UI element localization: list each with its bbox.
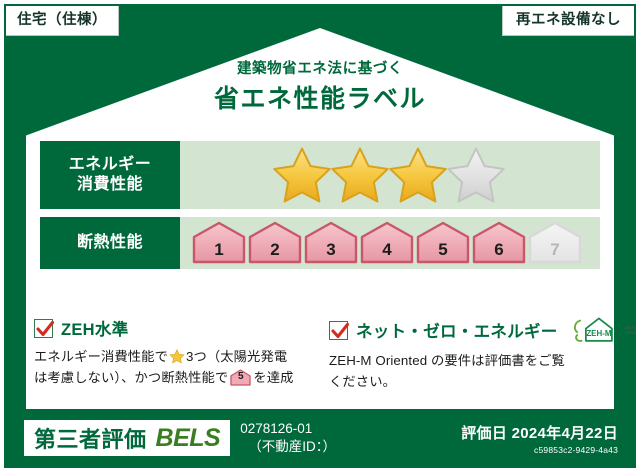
energy-performance-label-box: エネルギー 消費性能	[40, 141, 180, 209]
nze-criteria-title: ネット・ゼロ・エネルギー	[356, 318, 558, 342]
insulation-level-filled: 5	[416, 221, 470, 265]
star-rating	[271, 146, 503, 204]
label-frame: 住宅（住棟） 再エネ設備なし 建築物省エネ法に基づく 省エネ性能ラベル エネルギ…	[4, 4, 636, 468]
house-icon-inline: 5	[230, 369, 251, 386]
zeh-body-part3: を達成	[253, 370, 293, 385]
nze-criteria-header: ネット・ゼロ・エネルギー ZEH-M ZEH-M Oriented	[329, 316, 608, 344]
house-icon-value: 5	[230, 369, 251, 385]
zeh-criteria-body: エネルギー消費性能で 3つ（太陽光発電 は考慮しない）、かつ断熱性能で 5 を達…	[34, 347, 311, 388]
rating-rows: エネルギー 消費性能 断熱性能 1234567	[40, 141, 600, 277]
check-icon	[34, 318, 56, 340]
insulation-level-number: 5	[416, 240, 470, 260]
label-footer: 第三者評価 BELS 0278126-01 （不動産ID：） 評価日 2024年…	[4, 412, 636, 464]
certificate-property-id: （不動産ID：）	[240, 438, 336, 456]
house-rating: 1234567	[192, 221, 582, 265]
insulation-level-number: 7	[528, 240, 582, 260]
insulation-level-filled: 2	[248, 221, 302, 265]
check-icon	[329, 320, 351, 342]
energy-performance-label: 住宅（住棟） 再エネ設備なし 建築物省エネ法に基づく 省エネ性能ラベル エネルギ…	[0, 0, 640, 472]
insulation-levels-area: 1234567	[180, 217, 600, 269]
insulation-level-number: 4	[360, 240, 414, 260]
star-icon-filled	[271, 146, 333, 204]
insulation-performance-label-box: 断熱性能	[40, 217, 180, 269]
page-title: 建築物省エネ法に基づく 省エネ性能ラベル	[4, 62, 636, 112]
insulation-level-number: 2	[248, 240, 302, 260]
energy-performance-row: エネルギー 消費性能	[40, 141, 600, 209]
nze-criteria-body: ZEH-M Oriented の要件は評価書をご覧 ください。	[329, 351, 608, 392]
building-type-tag: 住宅（住棟）	[6, 6, 119, 36]
document-hash: c59853c2-9429-4a43	[461, 445, 618, 455]
zeh-body-stars: 3つ（太陽光発電	[186, 349, 287, 364]
star-icon-inline	[169, 349, 185, 364]
energy-stars-area	[180, 141, 600, 209]
nze-checkbox[interactable]	[329, 321, 348, 340]
zeh-body-part2: は考慮しない）、かつ断熱性能で	[34, 370, 228, 385]
zeh-body-part1: エネルギー消費性能で	[34, 349, 168, 364]
renewable-equipment-tag: 再エネ設備なし	[502, 6, 634, 36]
nze-criteria-card: ネット・ゼロ・エネルギー ZEH-M ZEH-M Oriented	[321, 316, 608, 392]
zeh-m-caption: ZEH-M Oriented	[625, 325, 636, 336]
star-icon-filled	[329, 146, 391, 204]
nze-body-line1: ZEH-M Oriented の要件は評価書をご覧	[329, 353, 565, 368]
certificate-info: 0278126-01 （不動産ID：）	[240, 420, 336, 456]
title-subtitle: 建築物省エネ法に基づく	[4, 62, 636, 77]
nze-body-line2: ください。	[329, 374, 396, 389]
insulation-level-number: 3	[304, 240, 358, 260]
certificate-number: 0278126-01	[240, 420, 336, 438]
zeh-criteria-card: ZEH水準 エネルギー消費性能で 3つ（太陽光発電 は考慮しない）、かつ断熱性能…	[34, 316, 321, 392]
zeh-m-caption-line2: Oriented	[625, 330, 636, 335]
star-icon-empty	[445, 146, 507, 204]
insulation-level-filled: 6	[472, 221, 526, 265]
zeh-criteria-title: ZEH水準	[61, 316, 129, 340]
insulation-level-filled: 1	[192, 221, 246, 265]
zeh-m-mark-icon: ZEH-M	[570, 316, 622, 344]
insulation-level-filled: 3	[304, 221, 358, 265]
insulation-level-filled: 4	[360, 221, 414, 265]
zeh-m-logo: ZEH-M ZEH-M Oriented	[570, 316, 636, 344]
star-icon-filled	[387, 146, 449, 204]
evaluation-date: 評価日 2024年4月22日	[461, 422, 618, 443]
zeh-m-caption-line1: ZEH-M	[625, 325, 636, 330]
bels-logo-en: BELS	[156, 424, 221, 453]
insulation-level-number: 6	[472, 240, 526, 260]
zeh-checkbox[interactable]	[34, 319, 53, 338]
insulation-level-number: 1	[192, 240, 246, 260]
energy-label-line1: エネルギー	[69, 155, 152, 175]
insulation-level-empty: 7	[528, 221, 582, 265]
bels-logo-ja: 第三者評価	[34, 422, 147, 454]
title-main: 省エネ性能ラベル	[4, 87, 636, 112]
zeh-criteria-header: ZEH水準	[34, 316, 311, 340]
svg-text:ZEH-M: ZEH-M	[586, 329, 612, 338]
insulation-performance-row: 断熱性能 1234567	[40, 217, 600, 269]
energy-label-line2: 消費性能	[69, 175, 152, 195]
bels-logo: 第三者評価 BELS	[24, 420, 230, 456]
criteria-section: ZEH水準 エネルギー消費性能で 3つ（太陽光発電 は考慮しない）、かつ断熱性能…	[34, 316, 608, 392]
evaluation-date-block: 評価日 2024年4月22日 c59853c2-9429-4a43	[461, 422, 618, 455]
